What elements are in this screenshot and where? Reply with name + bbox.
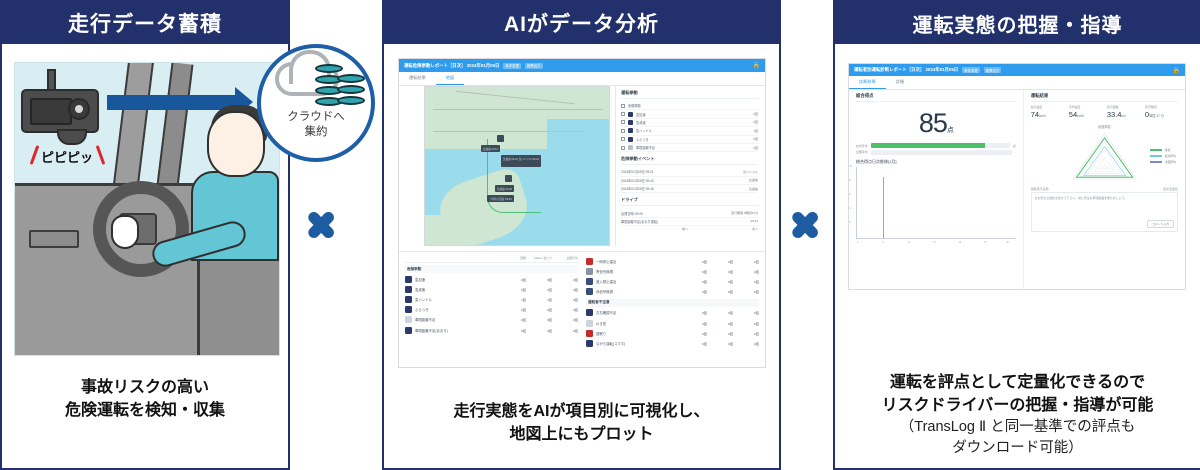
map-marker-icon-2[interactable] xyxy=(505,175,512,182)
x-tick: 0 xyxy=(857,242,858,244)
dashcam-illustration: ピピピッ xyxy=(14,62,280,356)
checkbox-icon[interactable] xyxy=(621,112,625,116)
app3-body: 総合得点 85点 社内平均 点 全国平均 - 総合得点日次推移[1月] 100 xyxy=(849,88,1185,290)
row-count: 0回 xyxy=(681,269,707,274)
row-avg: 0回 xyxy=(552,307,578,312)
radar-axis-left-label: 運転者不注意 xyxy=(1031,187,1049,191)
route-map[interactable]: 急減速 09:12 急加速 09:21 急ハンドル 09:24 急減速 09:4… xyxy=(424,86,610,246)
x-tick: 30 xyxy=(1006,242,1009,244)
col-count: 回数 xyxy=(500,256,526,260)
stat-duration: 走行時間 0時間 37 分 xyxy=(1145,105,1178,119)
decel-icon xyxy=(405,286,412,293)
stat-number: 33.4 xyxy=(1107,110,1122,119)
upload-arrow-icon xyxy=(107,95,237,110)
tab-map[interactable]: 地図 xyxy=(436,72,464,85)
row-label: 青信号無視 xyxy=(596,269,681,274)
panel-1-caption-line1: 事故リスクの高い xyxy=(2,376,288,399)
row-avg: 0回 xyxy=(733,279,759,284)
app3-title-bar: 運転者別運転診断レポート［日次］ 2024年01月05日 条件変更 帳票出力 🔒 xyxy=(849,64,1185,76)
app2-export-button[interactable]: 帳票出力 xyxy=(525,63,543,69)
row-label: 左右確認不足 xyxy=(596,310,681,315)
dashcam-body xyxy=(21,89,99,133)
stat-label: 最高速度 xyxy=(1031,105,1064,109)
panel-3-caption: 運転を評点として定量化できるので リスクドライバーの把握・指導が可能 （Tran… xyxy=(835,371,1200,458)
sidebar-section-driving-behavior: 運転挙動 xyxy=(621,90,758,99)
table-row: 進入禁止違反 0回 0回 0回 xyxy=(586,276,759,286)
row-avg: 0回 xyxy=(733,259,759,264)
panel-3-caption-line2: リスクドライバーの把握・指導が可能 xyxy=(835,394,1200,417)
comment-text: なお安全な運転を続けて下さい。常に安全な車間距離を保ちましょう。 xyxy=(1035,196,1127,200)
green-light-icon xyxy=(586,268,593,275)
map-water-east xyxy=(547,119,609,246)
row-per100km: 0回 xyxy=(526,287,552,292)
stop-sign-icon xyxy=(586,258,593,265)
air-vent xyxy=(29,230,79,248)
app2-title: 運転危険挙動レポート［日次］ 2024年01月05日 xyxy=(404,63,499,69)
wobble-icon xyxy=(405,306,412,313)
row-label: ながら運転(スマホ) xyxy=(596,341,681,346)
sidebar-subsection-label: 危険挙動 xyxy=(628,103,641,108)
row-label: 進入禁止違反 xyxy=(596,279,681,284)
dashcam-mount xyxy=(47,69,56,91)
app3-export-button[interactable]: 帳票出力 xyxy=(984,67,1002,73)
meter-unit-empty: - xyxy=(1015,150,1016,154)
cloud-label-line1: クラウドへ xyxy=(261,110,371,125)
stat-value: 74km/h xyxy=(1031,110,1064,119)
row-avg: 0回 xyxy=(733,331,759,336)
app3-title: 運転者別運転診断レポート［日次］ 2024年01月05日 xyxy=(854,67,958,73)
sidebar-subsection-danger: 危険挙動 xyxy=(621,102,758,110)
radar-legend: 得点 社内平均 全国平均 xyxy=(1150,148,1176,166)
total-score-heading: 総合得点 xyxy=(856,93,1016,102)
event-datetime: 2024年01月05日 09:21 xyxy=(621,169,654,174)
checkbox-icon[interactable] xyxy=(621,137,625,141)
event-datetime: 2024年01月05日 09:40 xyxy=(621,178,654,183)
stats-row: 最高速度 74km/h 平均速度 54km/h 走行距離 33.4km 走行時間… xyxy=(1031,105,1178,119)
y-tick: 40 xyxy=(848,207,851,210)
stat-value: 0時間 37 分 xyxy=(1145,110,1178,119)
radar-chart: 危険挙動 運転者不注意 道交法違反 xyxy=(1031,124,1178,192)
sidebar-row-value: 1回 xyxy=(753,129,758,133)
row-per100km: 0回 xyxy=(707,341,733,346)
flow-arrow-2-icon xyxy=(790,195,826,255)
row-per100km: 0回 xyxy=(707,331,733,336)
sidebar-row-label: 急減速 xyxy=(636,120,646,125)
stat-number: 74 xyxy=(1031,110,1039,119)
score-number: 85 xyxy=(919,108,947,138)
table-row: わき見 0回 0回 0回 xyxy=(586,318,759,328)
drive-duration: 走行時間 0時間37分 xyxy=(731,211,758,215)
row-count: 1回 xyxy=(500,297,526,302)
row-count: 0回 xyxy=(681,321,707,326)
x-tick: 5 xyxy=(882,242,883,244)
map-marker-label-4[interactable]: 一時停止違反 09:46 xyxy=(487,195,514,202)
event-type: 急減速 xyxy=(749,178,758,182)
dashcam-lens-icon xyxy=(68,98,90,120)
sidebar-row-value: 0回 xyxy=(753,146,758,150)
list-item[interactable]: 急加速 0回 xyxy=(621,110,758,118)
row-per100km: 0回 xyxy=(707,289,733,294)
map-land-sw xyxy=(424,215,471,245)
stat-unit: km/h xyxy=(1077,114,1084,118)
table-header-row: 回数 100km 当たり 全国平均 xyxy=(405,256,578,263)
database-icon-b xyxy=(337,74,365,107)
trend-chart-title: 総合得点日次推移[1月] xyxy=(856,159,1016,165)
sidebar-row-label: 急加速 xyxy=(636,112,646,117)
y-tick: 20 xyxy=(848,221,851,224)
row-per100km: 0回 xyxy=(707,310,733,315)
table-row: ふらつき 0回 0回 0回 xyxy=(405,305,578,315)
event-type: 急ハンドル xyxy=(743,170,758,174)
sidebar-row-value: 0回 xyxy=(753,137,758,141)
y-tick: 60 xyxy=(848,193,851,196)
cloud-badge-label: クラウドへ 集約 xyxy=(261,110,371,140)
sidebar-row-label: 車間距離不足 xyxy=(636,145,655,150)
checkbox-icon[interactable] xyxy=(621,120,625,124)
table-section-danger: 危険挙動 xyxy=(405,265,578,273)
map-marker-label-1[interactable]: 急減速 09:12 xyxy=(481,145,500,152)
row-avg: 0回 xyxy=(552,317,578,322)
table-row: 居眠り 0回 0回 0回 xyxy=(586,328,759,338)
drive-depart: 出発日時 09:05 xyxy=(621,211,643,216)
map-marker-label-3[interactable]: 急減速 09:40 xyxy=(495,185,514,192)
stat-value: 54km/h xyxy=(1069,110,1102,119)
sidebar-pager: 前へ 次へ xyxy=(621,226,758,232)
row-avg: 0回 xyxy=(733,341,759,346)
steering-icon xyxy=(405,296,412,303)
stat-label: 走行距離 xyxy=(1107,105,1140,109)
panel-1-caption: 事故リスクの高い 危険運転を検知・収集 xyxy=(2,376,288,422)
meter-national-avg: 全国平均 - xyxy=(856,150,1016,155)
map-marker-label-2[interactable]: 急加速 09:21 急ハンドル 09:24 xyxy=(501,155,541,167)
table-row: 一時停止違反 0回 0回 0回 xyxy=(586,256,759,266)
row-avg: 0回 xyxy=(733,310,759,315)
row-avg: 0回 xyxy=(552,297,578,302)
stat-label: 平均速度 xyxy=(1069,105,1102,109)
sidebar-row-value: 0回 xyxy=(753,112,758,116)
legend-item-company: 社内平均 xyxy=(1150,154,1176,158)
panel-3-caption-sub1: （TransLog Ⅱ と同一基準での評点も xyxy=(835,417,1200,437)
no-entry-icon xyxy=(586,278,593,285)
row-label: 急ハンドル xyxy=(415,297,500,302)
table-row[interactable]: 2024年01月05日 09:21 急ハンドル xyxy=(621,168,758,176)
row-label: 車間距離不足(あおり) xyxy=(415,328,500,333)
row-count: 0回 xyxy=(681,331,707,336)
row-count: 0回 xyxy=(500,287,526,292)
list-item[interactable]: 急減速 0回 xyxy=(621,119,758,127)
row-avg: 0回 xyxy=(552,287,578,292)
report-app-window-2: 運転危険挙動レポート［日次］ 2024年01月05日 条件変更 帳票出力 🔒 運… xyxy=(398,58,766,368)
legend-item-score: 得点 xyxy=(1150,148,1176,152)
table-row: 赤信号無視 0回 0回 0回 xyxy=(586,287,759,297)
table-section-inattention: 運転者不注意 xyxy=(586,299,759,307)
behavior-table-right: 一時停止違反 0回 0回 0回 青信号無視 0回 0回 0回 進入禁止違反 0回… xyxy=(586,256,759,363)
row-label: 急減速 xyxy=(415,287,500,292)
results-column: 運転結果 最高速度 74km/h 平均速度 54km/h 走行距離 33.4km xyxy=(1024,88,1185,290)
cloud-upload-badge: クラウドへ 集約 xyxy=(257,44,375,162)
tab-driving-result[interactable]: 運転結果 xyxy=(399,72,436,85)
row-label: 一時停止違反 xyxy=(596,259,681,264)
table-row: 車間距離不足(あおり) 0回 0回 0回 xyxy=(405,325,578,335)
y-tick: 0 xyxy=(848,233,849,236)
y-tick: 80 xyxy=(848,179,851,182)
table-row[interactable]: 2024年01月05日 09:46 急減速 xyxy=(621,185,758,193)
row-count: 0回 xyxy=(681,289,707,294)
table-row[interactable]: 2024年01月05日 09:40 急減速 xyxy=(621,177,758,185)
list-item[interactable]: 急ハンドル 1回 xyxy=(621,127,758,135)
row-per100km: 0回 xyxy=(526,307,552,312)
infographic-board: 走行データ蓄積 ピピピッ xyxy=(0,0,1200,470)
stat-unit: km xyxy=(1121,114,1125,118)
table-row[interactable]: 車間距離不足(あおり運転) 09:21 xyxy=(621,218,758,226)
panel-2-header: AIがデータ分析 xyxy=(384,2,779,44)
map-marker-icon-1[interactable] xyxy=(497,135,504,142)
alert-sound-label: ピピピッ xyxy=(41,147,93,166)
table-row: 急減速 0回 0回 0回 xyxy=(405,284,578,294)
app2-tabs: 運転結果 地図 xyxy=(399,72,765,86)
sidebar-section-events: 危険挙動イベント xyxy=(621,156,758,165)
driver-head xyxy=(207,111,265,177)
driver-hand xyxy=(111,215,139,249)
panel-1-caption-line2: 危険運転を検知・収集 xyxy=(2,399,288,422)
app2-condition-button[interactable]: 条件変更 xyxy=(503,63,521,69)
table-row[interactable]: 出発日時 09:05 走行時間 0時間37分 xyxy=(621,209,758,217)
row-count: 0回 xyxy=(500,328,526,333)
row-count: 0回 xyxy=(500,317,526,322)
row-per100km: 0回 xyxy=(526,317,552,322)
stat-distance: 走行距離 33.4km xyxy=(1107,105,1140,119)
flow-arrow-1-icon xyxy=(306,195,342,255)
lock-icon: 🔒 xyxy=(1173,67,1180,74)
trend-chart: 100 80 60 40 20 0 0 5 10 15 20 25 30 xyxy=(856,167,1016,239)
app2-sidebar: 運転挙動 危険挙動 急加速 0回 急減速 0回 急ハンドル 1回 xyxy=(615,86,763,246)
sidebar-row-label: ふらつき xyxy=(636,137,649,142)
table-row: 急ハンドル 1回 1回 0回 xyxy=(405,294,578,304)
drowsiness-icon xyxy=(586,330,593,337)
row-count: 0回 xyxy=(681,259,707,264)
row-avg: 0回 xyxy=(733,321,759,326)
row-label: 赤信号無視 xyxy=(596,289,681,294)
total-score-value: 85点 xyxy=(856,110,1016,137)
row-per100km: 0回 xyxy=(707,269,733,274)
row-label: 急加速 xyxy=(415,277,500,282)
table-row: ながら運転(スマホ) 0回 0回 0回 xyxy=(586,338,759,348)
panel-3-caption-sub2: ダウンロード可能） xyxy=(835,438,1200,458)
row-label: わき見 xyxy=(596,321,681,326)
row-label: ふらつき xyxy=(415,307,500,312)
table-row: 左右確認不足 0回 0回 0回 xyxy=(586,308,759,318)
stat-unit: 時間 37 分 xyxy=(1149,114,1164,118)
panel-3-caption-line1: 運転を評点として定量化できるので xyxy=(835,371,1200,394)
stat-unit: km/h xyxy=(1039,114,1046,118)
col-per100km: 100km 当たり xyxy=(526,256,552,260)
legend-item-national: 全国平均 xyxy=(1150,160,1176,164)
results-heading: 運転結果 xyxy=(1031,93,1178,102)
row-per100km: 0回 xyxy=(526,328,552,333)
x-tick: 15 xyxy=(933,242,936,244)
row-avg: 0回 xyxy=(552,328,578,333)
panel-2-caption-line2: 地図上にもプロット xyxy=(384,423,779,446)
lock-icon: 🔒 xyxy=(753,62,760,69)
row-per100km: 0回 xyxy=(707,279,733,284)
x-tick: 25 xyxy=(984,242,987,244)
radar-axis-right-label: 道交法違反 xyxy=(1163,187,1178,191)
red-light-icon xyxy=(586,288,593,295)
radar-axis-top-label: 危険挙動 xyxy=(1031,124,1178,129)
cloud-label-line2: 集約 xyxy=(261,125,371,140)
row-count: 0回 xyxy=(681,310,707,315)
row-avg: 0回 xyxy=(733,289,759,294)
panel-2-caption: 走行実態をAIが項目別に可視化し、 地図上にもプロット xyxy=(384,400,779,446)
list-item[interactable]: 車間距離不足 0回 xyxy=(621,144,758,152)
meter-label: 社内平均 xyxy=(856,144,868,148)
tailgating-icon xyxy=(405,327,412,334)
score-column: 総合得点 85点 社内平均 点 全国平均 - 総合得点日次推移[1月] 100 xyxy=(849,88,1024,290)
checkbox-icon[interactable] xyxy=(621,104,625,108)
phone-use-icon xyxy=(586,340,593,347)
meter-unit: 点 xyxy=(1013,144,1016,148)
app3-condition-button[interactable]: 条件変更 xyxy=(962,67,980,73)
meter-label: 全国平均 xyxy=(856,150,868,154)
sidebar-section-drive: ドライブ xyxy=(621,197,758,206)
row-avg: 0回 xyxy=(733,269,759,274)
app2-title-bar: 運転危険挙動レポート［日次］ 2024年01月05日 条件変更 帳票出力 🔒 xyxy=(399,59,765,72)
col-national-avg: 全国平均 xyxy=(552,256,578,260)
lookaround-icon xyxy=(586,309,593,316)
accel-icon xyxy=(405,276,412,283)
row-count: 0回 xyxy=(681,279,707,284)
comment-input-button[interactable]: コメント入力 xyxy=(1147,220,1174,228)
checkbox-icon[interactable] xyxy=(621,146,625,150)
panel-1-header: 走行データ蓄積 xyxy=(2,2,288,44)
row-count: 0回 xyxy=(500,307,526,312)
behavior-table: 回数 100km 当たり 全国平均 危険挙動 急加速 0回 0回 0回 急減速 … xyxy=(399,251,765,367)
data-point-spike xyxy=(883,177,884,237)
drive-event: 車間距離不足(あおり運転) xyxy=(621,219,658,224)
row-count: 0回 xyxy=(681,341,707,346)
checkbox-icon[interactable] xyxy=(621,129,625,133)
row-per100km: 1回 xyxy=(526,297,552,302)
row-avg: 0回 xyxy=(552,277,578,282)
stat-label: 走行時間 xyxy=(1145,105,1178,109)
distraction-icon xyxy=(586,320,593,327)
stat-value: 33.4km xyxy=(1107,110,1140,119)
comment-box[interactable]: なお安全な運転を続けて下さい。常に安全な車間距離を保ちましょう。 コメント入力 xyxy=(1031,192,1178,232)
dashcam-screen xyxy=(30,98,72,125)
table-row: 急加速 0回 0回 0回 xyxy=(405,274,578,284)
behavior-table-left: 回数 100km 当たり 全国平均 危険挙動 急加速 0回 0回 0回 急減速 … xyxy=(405,256,578,363)
panel-2-caption-line1: 走行実態をAIが項目別に可視化し、 xyxy=(384,400,779,423)
row-per100km: 0回 xyxy=(707,259,733,264)
list-item[interactable]: ふらつき 0回 xyxy=(621,136,758,144)
x-tick: 10 xyxy=(908,242,911,244)
next-button[interactable]: 次へ xyxy=(752,227,758,231)
row-label: 居眠り xyxy=(596,331,681,336)
row-per100km: 0回 xyxy=(707,321,733,326)
event-datetime: 2024年01月05日 09:46 xyxy=(621,186,654,191)
meter-bar xyxy=(871,150,1012,155)
report-app-window-3: 運転者別運転診断レポート［日次］ 2024年01月05日 条件変更 帳票出力 🔒… xyxy=(848,63,1186,290)
row-label: 車間距離不足 xyxy=(415,317,500,322)
score-unit: 点 xyxy=(947,127,953,134)
sidebar-row-value: 0回 xyxy=(753,120,758,124)
panel-3-header: 運転実態の把握・指導 xyxy=(835,2,1200,44)
x-tick: 20 xyxy=(959,242,962,244)
stat-avg-speed: 平均速度 54km/h xyxy=(1069,105,1102,119)
sidebar-row-label: 急ハンドル xyxy=(636,128,652,133)
table-row: 青信号無視 0回 0回 0回 xyxy=(586,266,759,276)
y-tick: 100 xyxy=(848,165,852,168)
stat-number: 54 xyxy=(1069,110,1077,119)
panel-data-collection: 走行データ蓄積 ピピピッ xyxy=(0,0,290,470)
event-type: 急減速 xyxy=(749,187,758,191)
table-row: 車間距離不足 0回 0回 0回 xyxy=(405,315,578,325)
meter-company-avg: 社内平均 点 xyxy=(856,143,1016,148)
drive-time: 09:21 xyxy=(750,219,758,223)
row-per100km: 0回 xyxy=(526,277,552,282)
row-count: 0回 xyxy=(500,277,526,282)
meter-bar xyxy=(871,143,1010,148)
stat-max-speed: 最高速度 74km/h xyxy=(1031,105,1064,119)
prev-button[interactable]: 前へ xyxy=(682,227,688,231)
headway-icon xyxy=(405,316,412,323)
